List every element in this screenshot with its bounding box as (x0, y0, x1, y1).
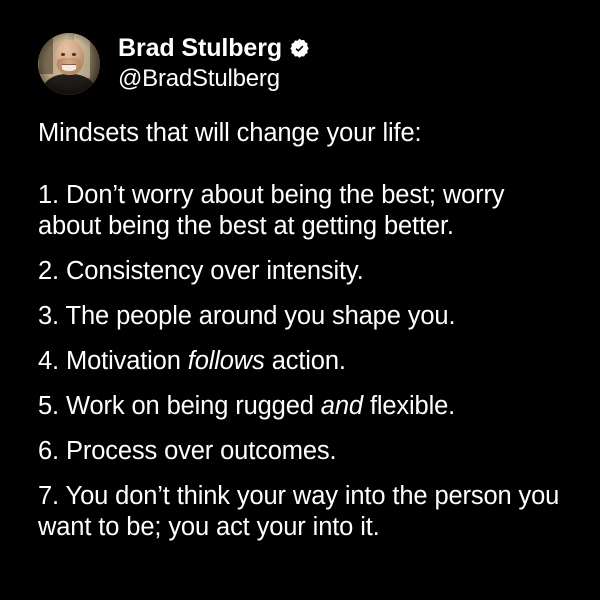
tweet-item-text: Don’t worry about being the best; worry … (38, 181, 504, 240)
tweet-item: 5. Work on being rugged and flexible. (38, 391, 566, 422)
avatar-vignette (38, 33, 100, 95)
tweet-item-text: Process over outcomes. (66, 437, 336, 465)
tweet-item: 4. Motivation follows action. (38, 346, 566, 377)
tweet-item-number: 6. (38, 437, 66, 465)
tweet-item-number: 1. (38, 181, 66, 209)
tweet-item: 1. Don’t worry about being the best; wor… (38, 180, 566, 242)
tweet-item-text: action. (265, 347, 346, 375)
tweet-item-emphasis: follows (188, 347, 265, 375)
display-name[interactable]: Brad Stulberg (118, 34, 282, 64)
tweet-item-list: 1. Don’t worry about being the best; wor… (38, 180, 566, 543)
tweet-item: 3. The people around you shape you. (38, 301, 566, 332)
tweet-item-emphasis: and (321, 392, 363, 420)
tweet-item: 7. You don’t think your way into the per… (38, 481, 566, 543)
tweet-item-text: Motivation (66, 347, 188, 375)
tweet-body: Mindsets that will change your life: 1. … (0, 118, 600, 543)
tweet-item-number: 3. (38, 302, 66, 330)
tweet-card: Brad Stulberg @BradStulberg Mindsets tha… (0, 0, 600, 600)
tweet-item-text: Consistency over intensity. (66, 257, 364, 285)
tweet-item-text: You don’t think your way into the person… (38, 482, 559, 541)
verified-badge-icon (289, 38, 310, 59)
tweet-item-number: 2. (38, 257, 66, 285)
display-name-row: Brad Stulberg (118, 34, 310, 64)
tweet-item: 2. Consistency over intensity. (38, 256, 566, 287)
tweet-item-number: 5. (38, 392, 66, 420)
tweet-item: 6. Process over outcomes. (38, 436, 566, 467)
tweet-item-number: 7. (38, 482, 66, 510)
avatar[interactable] (38, 33, 100, 95)
avatar-photo (38, 33, 100, 95)
tweet-item-number: 4. (38, 347, 66, 375)
tweet-intro-line: Mindsets that will change your life: (38, 118, 566, 149)
tweet-header: Brad Stulberg @BradStulberg (0, 0, 600, 95)
tweet-item-text: The people around you shape you. (66, 302, 456, 330)
account-handle[interactable]: @BradStulberg (118, 65, 310, 94)
account-name-block: Brad Stulberg @BradStulberg (118, 34, 310, 94)
tweet-item-text: flexible. (363, 392, 455, 420)
tweet-item-text: Work on being rugged (66, 392, 321, 420)
